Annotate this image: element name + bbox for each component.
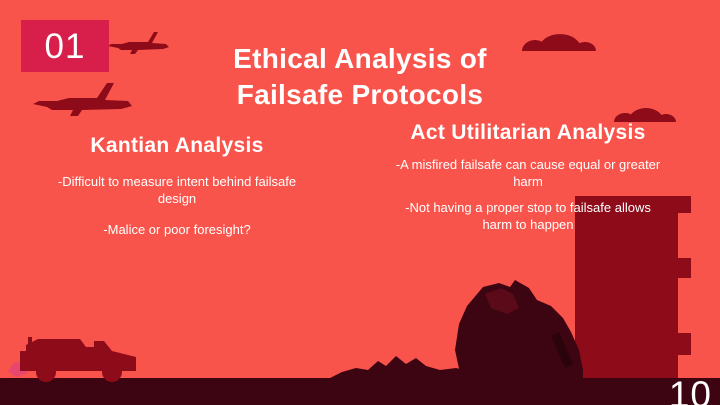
slide-title-line-2: Failsafe Protocols bbox=[150, 77, 570, 113]
bullet-item: -Not having a proper stop to failsafe al… bbox=[393, 199, 663, 233]
bullet-list: -Difficult to measure intent behind fail… bbox=[12, 173, 342, 237]
wrecked-tank-icon bbox=[455, 278, 585, 378]
bullet-item: -Malice or poor foresight? bbox=[47, 221, 307, 238]
slide-title: Ethical Analysis of Failsafe Protocols bbox=[150, 41, 570, 113]
slide-canvas: 01 Ethical Analysis of Failsafe Protocol… bbox=[0, 0, 720, 405]
bullet-item: -A misfired failsafe can cause equal or … bbox=[393, 156, 663, 190]
column-heading: Kantian Analysis bbox=[12, 133, 342, 159]
column-act-utilitarian-analysis: Act Utilitarian Analysis -A misfired fai… bbox=[378, 120, 678, 233]
fighter-jet-icon bbox=[33, 82, 133, 118]
section-number-text: 01 bbox=[45, 29, 86, 64]
column-heading: Act Utilitarian Analysis bbox=[378, 120, 678, 146]
military-jeep-icon bbox=[8, 331, 138, 383]
bullet-list: -A misfired failsafe can cause equal or … bbox=[378, 156, 678, 233]
bullet-item: -Difficult to measure intent behind fail… bbox=[47, 173, 307, 207]
slide-title-line-1: Ethical Analysis of bbox=[150, 41, 570, 77]
page-number: 10 bbox=[669, 376, 712, 405]
column-kantian-analysis: Kantian Analysis -Difficult to measure i… bbox=[12, 133, 342, 238]
section-number-badge: 01 bbox=[21, 20, 109, 72]
